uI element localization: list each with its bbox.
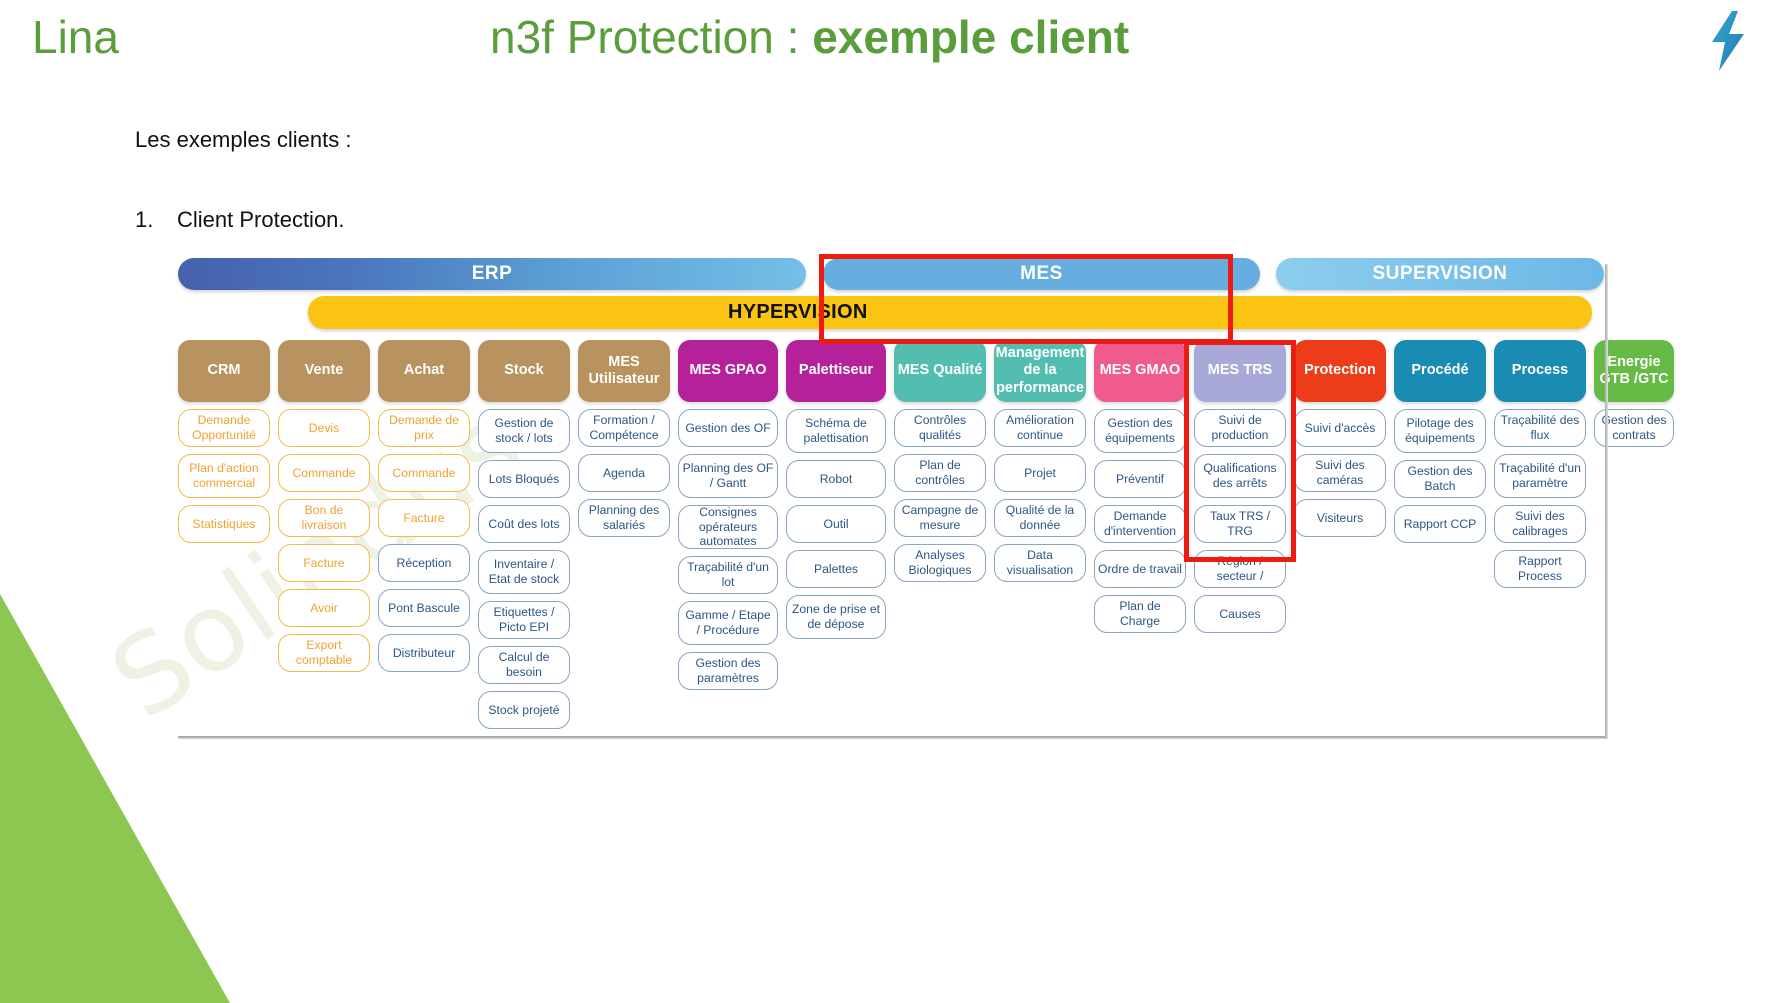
column-cell[interactable]: Rapport Process: [1494, 550, 1586, 588]
column-cell[interactable]: Campagne de mesure: [894, 499, 986, 537]
column-cell[interactable]: Pont Bascule: [378, 589, 470, 627]
column-cell[interactable]: Plan d'action commercial: [178, 454, 270, 498]
column-cell[interactable]: Gestion des équipements: [1094, 409, 1186, 453]
column-header[interactable]: MES GPAO: [678, 340, 778, 402]
column-cell[interactable]: Etiquettes / Picto EPI: [478, 601, 570, 639]
column-cell[interactable]: Gestion des Batch: [1394, 460, 1486, 498]
column-header[interactable]: Vente: [278, 340, 370, 402]
column-cell[interactable]: Coût des lots: [478, 505, 570, 543]
column-cell[interactable]: Suivi des caméras: [1294, 454, 1386, 492]
column-cell[interactable]: Stock projeté: [478, 691, 570, 729]
diagram-column-protection: ProtectionSuivi d'accèsSuivi des caméras…: [1294, 340, 1386, 537]
column-cell[interactable]: Demande de prix: [378, 409, 470, 447]
column-cell[interactable]: Planning des OF / Gantt: [678, 454, 778, 498]
column-cell[interactable]: Data visualisation: [994, 544, 1086, 582]
column-cell[interactable]: Suivi d'accès: [1294, 409, 1386, 447]
column-cell[interactable]: Projet: [994, 454, 1086, 492]
column-cell[interactable]: Robot: [786, 460, 886, 498]
diagram-column-proc-d: ProcédéPilotage des équipementsGestion d…: [1394, 340, 1486, 543]
column-cell[interactable]: Traçabilité d'un paramètre: [1494, 454, 1586, 498]
column-cell[interactable]: Taux TRS / TRG: [1194, 505, 1286, 543]
list-number: 1.: [135, 207, 177, 233]
column-cell[interactable]: Gamme / Etape / Procédure: [678, 601, 778, 645]
column-cell[interactable]: Consignes opérateurs automates: [678, 505, 778, 549]
lightning-bolt-icon: [1698, 6, 1758, 76]
column-cell[interactable]: Zone de prise et de dépose: [786, 595, 886, 639]
lead-text: Les exemples clients :: [135, 127, 351, 153]
page-title-plain: n3f Protection :: [490, 11, 812, 63]
diagram-right-rule: [1605, 264, 1608, 739]
column-header[interactable]: Protection: [1294, 340, 1386, 402]
band-erp: ERP: [178, 258, 806, 290]
mes-architecture-diagram: ERP MES SUPERVISION HYPERVISION CRMDeman…: [178, 258, 1608, 739]
column-header[interactable]: Stock: [478, 340, 570, 402]
column-cell[interactable]: Commande: [278, 454, 370, 492]
column-header[interactable]: MES GMAO: [1094, 340, 1186, 402]
column-cell[interactable]: Ordre de travail: [1094, 550, 1186, 588]
column-cell[interactable]: Amélioration continue: [994, 409, 1086, 447]
column-cell[interactable]: Causes: [1194, 595, 1286, 633]
column-cell[interactable]: Analyses Biologiques: [894, 544, 986, 582]
column-cell[interactable]: Distributeur: [378, 634, 470, 672]
diagram-column-mes-qualit: MES QualitéContrôles qualitésPlan de con…: [894, 340, 986, 582]
diagram-column-mes-trs: MES TRSSuivi de productionQualifications…: [1194, 340, 1286, 633]
band-supervision: SUPERVISION: [1276, 258, 1604, 290]
column-cell[interactable]: Demande Opportunité: [178, 409, 270, 447]
column-cell[interactable]: Qualité de la donnée: [994, 499, 1086, 537]
diagram-column-crm: CRMDemande OpportunitéPlan d'action comm…: [178, 340, 270, 543]
diagram-column-process: ProcessTraçabilité des fluxTraçabilité d…: [1494, 340, 1586, 588]
column-cell[interactable]: Réception: [378, 544, 470, 582]
column-cell[interactable]: Lots Bloqués: [478, 460, 570, 498]
diagram-bottom-rule: [178, 736, 1608, 739]
diagram-column-palettiseur: PalettiseurSchéma de palettisationRobotO…: [786, 340, 886, 639]
column-cell[interactable]: Agenda: [578, 454, 670, 492]
column-cell[interactable]: Demande d'intervention: [1094, 505, 1186, 543]
column-header[interactable]: Management de la performance: [994, 340, 1086, 402]
column-cell[interactable]: Bon de livraison: [278, 499, 370, 537]
list-item-label: Client Protection.: [177, 207, 345, 232]
column-cell[interactable]: Planning des salariés: [578, 499, 670, 537]
column-cell[interactable]: Gestion de stock / lots: [478, 409, 570, 453]
diagram-column-vente: VenteDevisCommandeBon de livraisonFactur…: [278, 340, 370, 672]
diagram-column-mes-gpao: MES GPAOGestion des OFPlanning des OF / …: [678, 340, 778, 690]
column-cell[interactable]: Suivi de production: [1194, 409, 1286, 447]
column-header[interactable]: Process: [1494, 340, 1586, 402]
column-cell[interactable]: Commande: [378, 454, 470, 492]
column-cell[interactable]: Qualifications des arrêts: [1194, 454, 1286, 498]
column-cell[interactable]: Gestion des paramètres: [678, 652, 778, 690]
diagram-column-achat: AchatDemande de prixCommandeFactureRécep…: [378, 340, 470, 672]
column-cell[interactable]: Inventaire / Etat de stock: [478, 550, 570, 594]
column-header[interactable]: Palettiseur: [786, 340, 886, 402]
column-cell[interactable]: Outil: [786, 505, 886, 543]
column-header[interactable]: MES Qualité: [894, 340, 986, 402]
column-cell[interactable]: Export comptable: [278, 634, 370, 672]
diagram-column-management-de-la-performance: Management de la performanceAmélioration…: [994, 340, 1086, 582]
column-cell[interactable]: Région / secteur /: [1194, 550, 1286, 588]
diagram-column-mes-gmao: MES GMAOGestion des équipementsPréventif…: [1094, 340, 1186, 633]
column-cell[interactable]: Statistiques: [178, 505, 270, 543]
column-cell[interactable]: Facture: [278, 544, 370, 582]
band-hypervision-label: HYPERVISION: [728, 301, 868, 324]
column-cell[interactable]: Facture: [378, 499, 470, 537]
slide-title-left: Lina: [32, 10, 119, 64]
diagram-column-mes-utilisateur: MES UtilisateurFormation / CompétenceAge…: [578, 340, 670, 537]
column-cell[interactable]: Palettes: [786, 550, 886, 588]
page-title: n3f Protection : exemple client: [490, 10, 1129, 64]
column-cell[interactable]: Gestion des OF: [678, 409, 778, 447]
column-cell[interactable]: Visiteurs: [1294, 499, 1386, 537]
column-cell[interactable]: Plan de contrôles: [894, 454, 986, 492]
column-cell[interactable]: Traçabilité des flux: [1494, 409, 1586, 447]
column-cell[interactable]: Calcul de besoin: [478, 646, 570, 684]
list-item: 1.Client Protection.: [135, 207, 345, 233]
column-header[interactable]: MES Utilisateur: [578, 340, 670, 402]
page-title-bold: exemple client: [812, 11, 1129, 63]
band-hypervision: HYPERVISION: [308, 296, 1592, 329]
band-mes: MES: [823, 258, 1260, 290]
column-cell[interactable]: Rapport CCP: [1394, 505, 1486, 543]
column-header[interactable]: Procédé: [1394, 340, 1486, 402]
column-cell[interactable]: Devis: [278, 409, 370, 447]
column-header[interactable]: MES TRS: [1194, 340, 1286, 402]
column-header[interactable]: CRM: [178, 340, 270, 402]
column-cell[interactable]: Pilotage des équipements: [1394, 409, 1486, 453]
column-cell[interactable]: Préventif: [1094, 460, 1186, 498]
column-cell[interactable]: Avoir: [278, 589, 370, 627]
column-cell[interactable]: Suivi des calibrages: [1494, 505, 1586, 543]
column-cell[interactable]: Plan de Charge: [1094, 595, 1186, 633]
column-cell[interactable]: Schéma de palettisation: [786, 409, 886, 453]
column-cell[interactable]: Contrôles qualités: [894, 409, 986, 447]
column-cell[interactable]: Traçabilité d'un lot: [678, 556, 778, 594]
column-header[interactable]: Achat: [378, 340, 470, 402]
diagram-column-stock: StockGestion de stock / lotsLots Bloqués…: [478, 340, 570, 729]
column-cell[interactable]: Formation / Compétence: [578, 409, 670, 447]
